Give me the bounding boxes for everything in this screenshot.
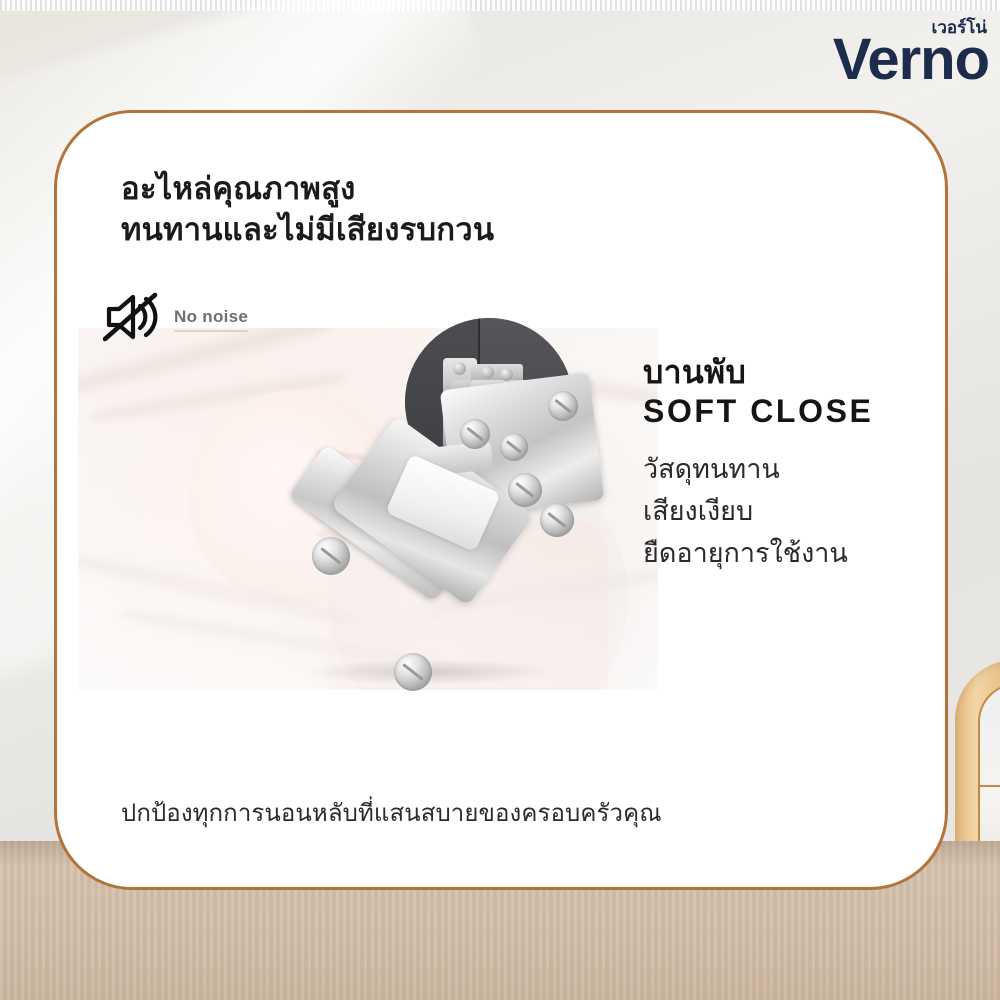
hinge-screw <box>548 391 578 421</box>
soft-close-hinge-product <box>272 363 602 693</box>
feature-title: บานพับ SOFT CLOSE <box>643 353 923 431</box>
promo-banner: เวอร์โน่ Verno อะไหล่คุณภาพสูง ทนทานและไ… <box>0 0 1000 1000</box>
footer-caption: ปกป้องทุกการนอนหลับที่แสนสบายของครอบครัว… <box>121 793 881 832</box>
hinge-screw <box>500 433 528 461</box>
no-noise-label: No noise <box>174 307 248 332</box>
hinge-screw <box>540 503 574 537</box>
feature-bullet: ยืดอายุการใช้งาน <box>643 532 923 574</box>
brand-logo: เวอร์โน่ Verno <box>790 8 995 100</box>
content-card: อะไหล่คุณภาพสูง ทนทานและไม่มีเสียงรบกวน <box>54 110 948 890</box>
hinge-screw <box>312 537 350 575</box>
feature-title-thai: บานพับ <box>643 353 923 392</box>
no-noise-badge: No noise <box>103 291 248 348</box>
feature-bullet: เสียงเงียบ <box>643 490 923 532</box>
feature-text-block: บานพับ SOFT CLOSE วัสดุทนทาน เสียงเงียบ … <box>643 353 923 574</box>
hinge-screw <box>394 653 432 691</box>
brand-wordmark: Verno <box>833 26 989 93</box>
hinge-screw <box>508 473 542 507</box>
feature-title-en: SOFT CLOSE <box>643 392 923 431</box>
hinge-screw <box>460 419 490 449</box>
wooden-arch-mirror-divider <box>978 785 1000 787</box>
mute-speaker-icon <box>103 291 161 348</box>
page-title: อะไหล่คุณภาพสูง ทนทานและไม่มีเสียงรบกวน <box>121 168 681 250</box>
feature-bullet: วัสดุทนทาน <box>643 448 923 490</box>
feature-bullet-list: วัสดุทนทาน เสียงเงียบ ยืดอายุการใช้งาน <box>643 448 923 574</box>
